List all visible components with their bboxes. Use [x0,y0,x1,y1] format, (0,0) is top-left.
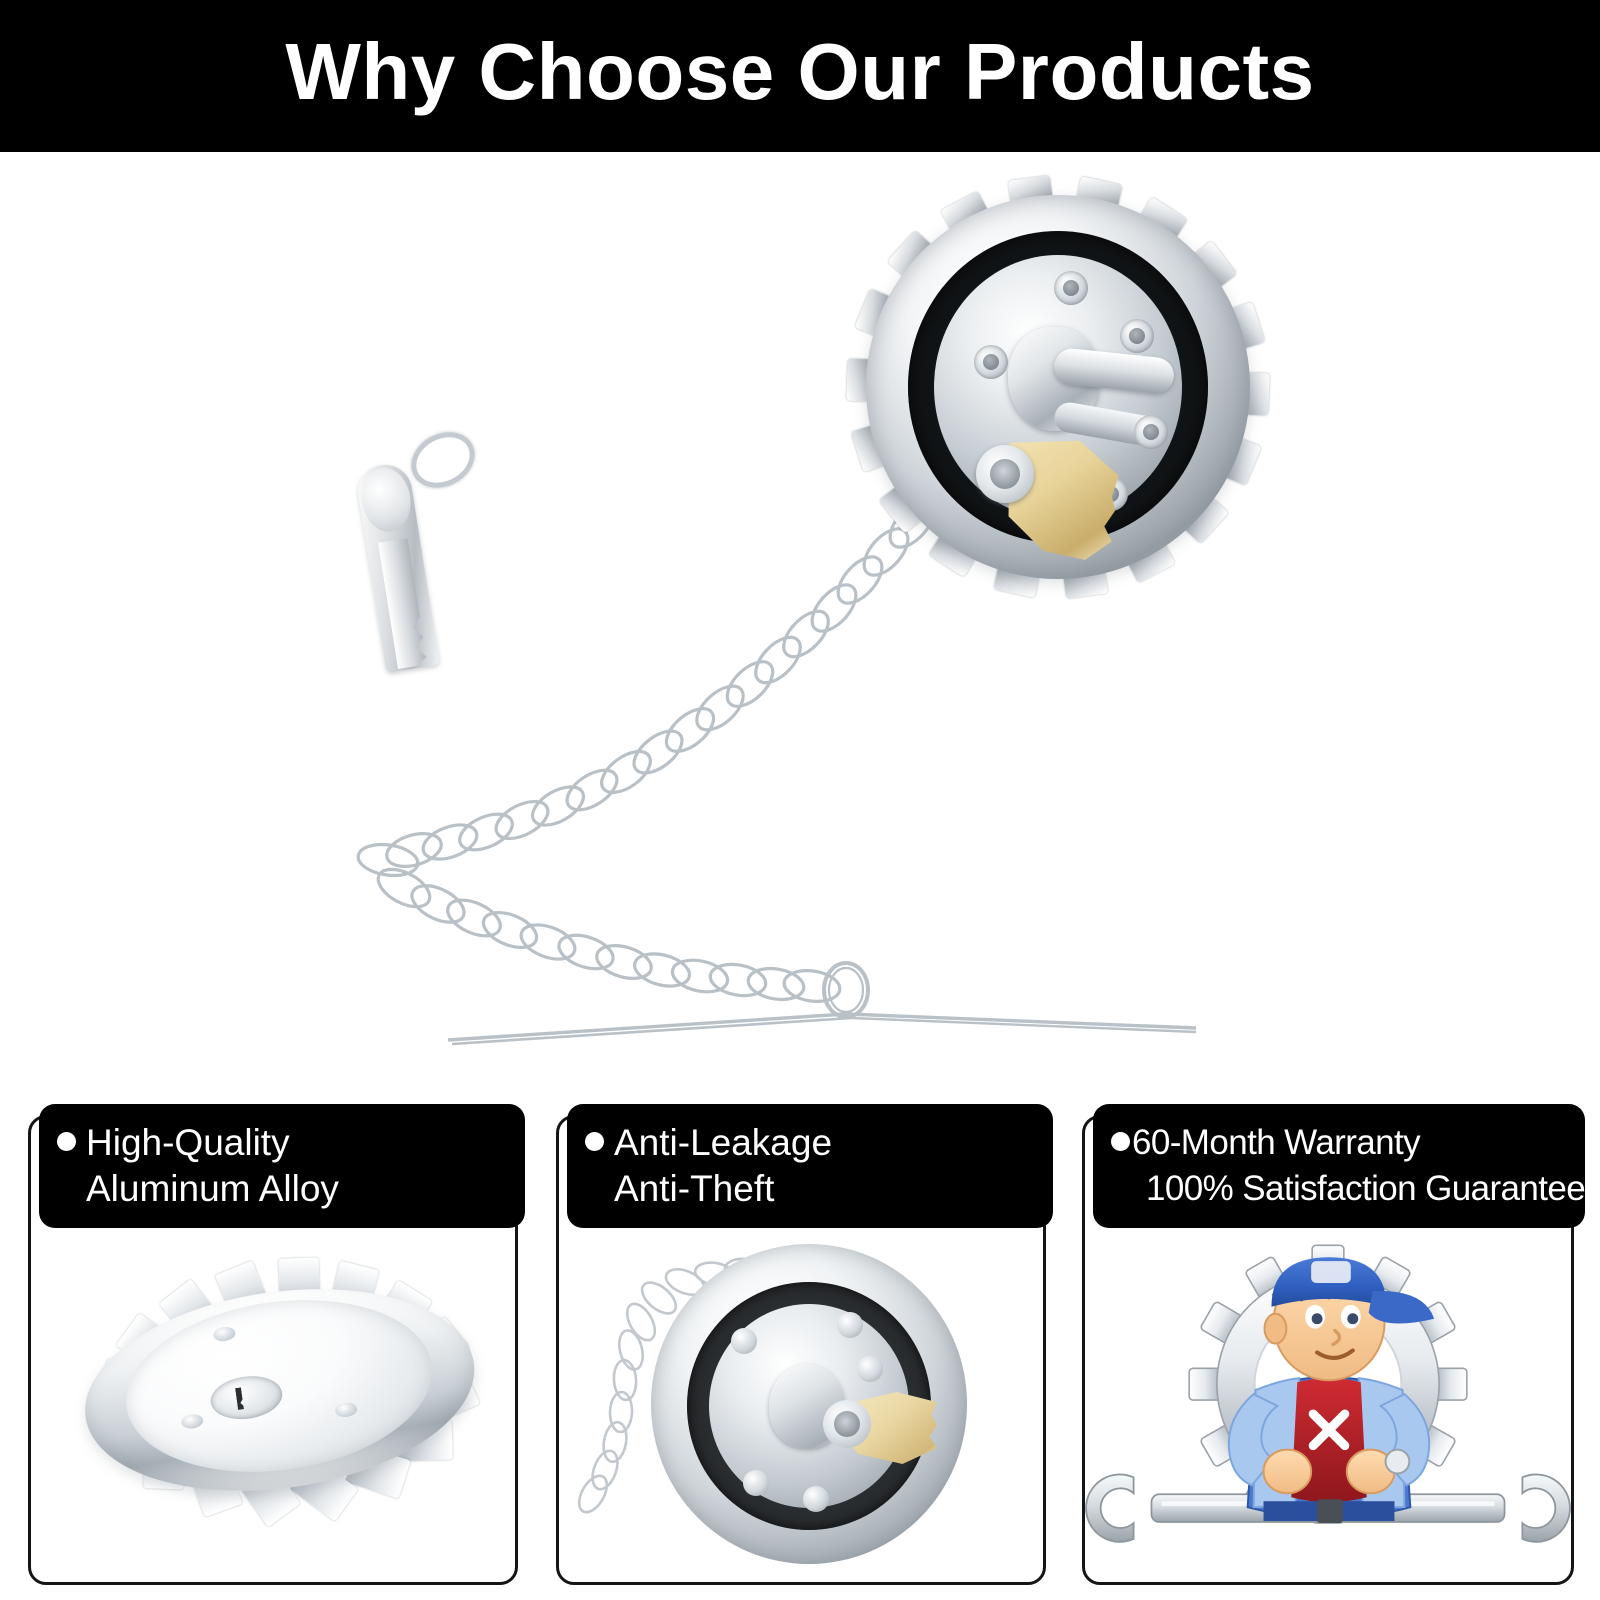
lock-screw-head [823,1400,871,1448]
chain-and-pin-graphic [0,152,1600,1087]
page-title: Why Choose Our Products [285,32,1314,112]
feature-image-fuel-cap-underside [559,1226,1043,1584]
mechanic-gear-wrench-illustration [1085,1226,1571,1584]
key-bow [358,464,415,535]
feature-cards-row: High-Quality Aluminum Alloy [0,1093,1600,1600]
feature-label-line-1: Anti-Leakage [614,1120,832,1166]
feature-label-line-1: High-Quality [86,1120,339,1166]
bullet-dot-icon [57,1132,76,1151]
feature-image-fuel-cap-top [31,1226,515,1584]
key-blade [378,538,428,669]
feature-label-banner: Anti-Leakage Anti-Theft [567,1104,1053,1228]
fuel-cap-main [858,177,1258,597]
feature-label-banner: 60-Month Warranty 100% Satisfaction Guar… [1093,1104,1585,1228]
bullet-dot-icon [1111,1132,1130,1151]
feature-label-line-1: 60-Month Warranty [1132,1120,1585,1166]
cap-boss [1120,319,1154,353]
feature-card-anti-leakage: Anti-Leakage Anti-Theft [556,1115,1046,1585]
cap-boss [1054,271,1088,305]
hero-product-image [0,152,1600,1087]
feature-card-warranty: 60-Month Warranty 100% Satisfaction Guar… [1082,1115,1574,1585]
cap-boss [974,345,1008,379]
bullet-dot-icon [585,1132,604,1151]
key-primary [354,461,440,673]
header-banner: Why Choose Our Products [0,0,1600,152]
feature-label-line-2: Anti-Theft [614,1166,832,1212]
cap-boss [1134,415,1168,449]
key-ring [402,422,485,499]
keys-group [352,434,552,684]
feature-card-high-quality: High-Quality Aluminum Alloy [28,1115,518,1585]
feature-label-line-2: 100% Satisfaction Guarantee [1132,1166,1585,1212]
lock-screw-head [976,445,1034,503]
feature-label-banner: High-Quality Aluminum Alloy [39,1104,525,1228]
feature-image-mechanic-mascot [1085,1226,1571,1584]
feature-label-line-2: Aluminum Alloy [86,1166,339,1212]
